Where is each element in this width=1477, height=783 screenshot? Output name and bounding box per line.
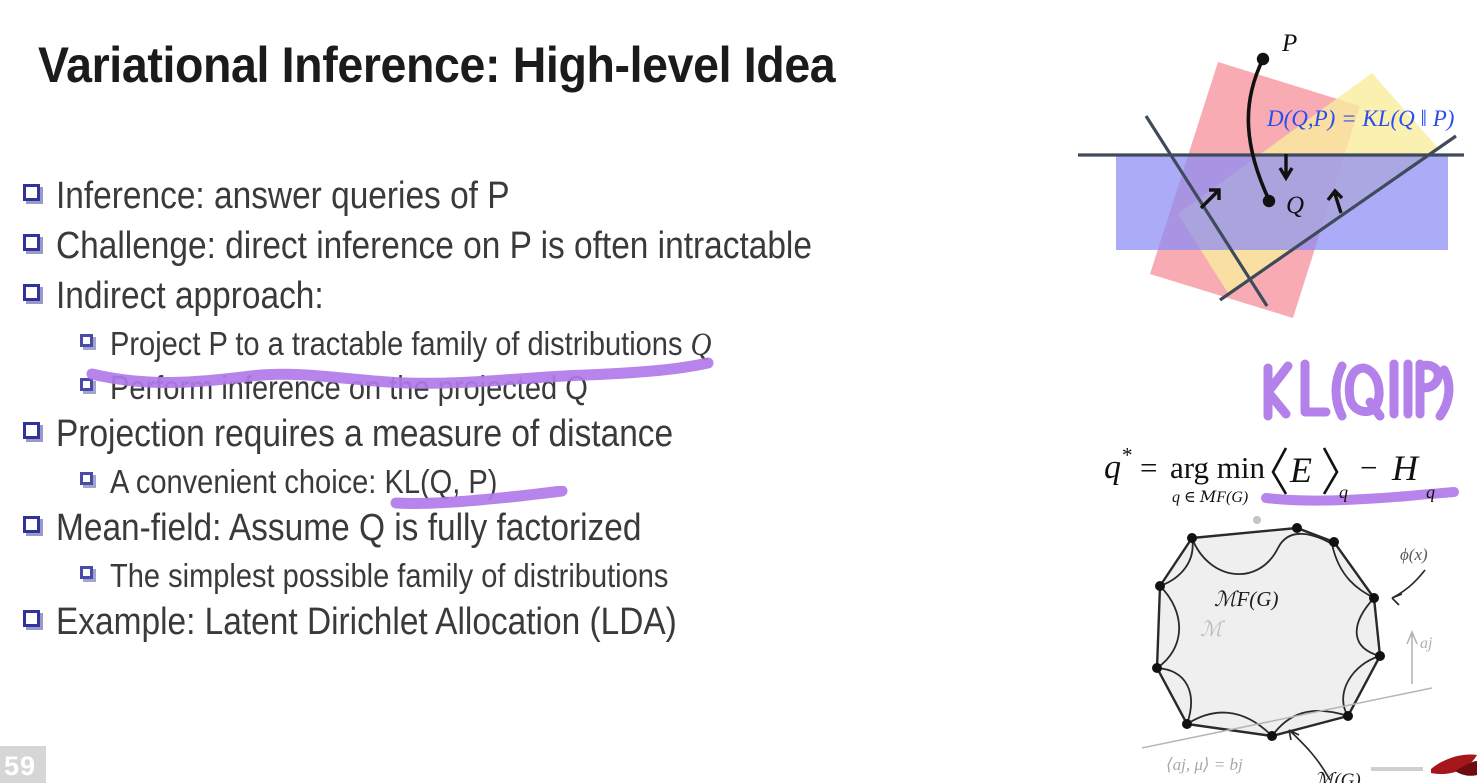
list-item: Mean-field: Assume Q is fully factorized [22,504,1032,554]
list-item-label: Perform inference on the projected Q [110,366,588,409]
list-item: Challenge: direct inference on P is ofte… [22,222,1032,272]
vertex-dot [1343,711,1353,721]
list-item-label: Indirect approach: [56,272,324,320]
bullet-square-icon [80,378,110,408]
list-item: Inference: answer queries of P [22,172,1032,222]
decoration-bar [1371,767,1423,771]
bullet-square-icon [80,566,110,596]
equation-star: * [1122,443,1133,467]
kl-formula-label: D(Q,P) = KL(Q ‖ P) [1266,106,1454,131]
list-item-label: Example: Latent Dirichlet Allocation (LD… [56,598,677,646]
vertex-dot [1292,523,1302,533]
vertex-dot [1375,651,1385,661]
list-item: Perform inference on the projected Q [80,366,1032,410]
list-item: Example: Latent Dirichlet Allocation (LD… [22,598,1032,648]
label-halfspace: ⟨aj, μ⟩ = bj [1166,755,1243,774]
label-mean-field: ℳF(G) [1214,587,1278,611]
list-item-label: Project P to a tractable family of distr… [110,322,712,367]
vertex-dot [1329,537,1339,547]
equation-energy-sub: q [1339,482,1348,502]
angle-bracket-left [1273,448,1286,494]
bullet-square-icon [22,183,56,217]
equation-lhs: q [1104,449,1121,486]
arrow-aj [1407,632,1417,684]
page-title: Variational Inference: High-level Idea [38,36,835,94]
point-p-dot [1257,53,1269,65]
list-item-label: Mean-field: Assume Q is fully factorized [56,504,641,552]
equation-entropy: H [1391,448,1420,488]
kl-projection-diagram: P Q D(Q,P) = KL(Q ‖ P) [1060,18,1477,338]
slide-canvas: Variational Inference: High-level Idea I… [0,0,1477,783]
arrow-phi [1392,570,1425,605]
bullet-square-icon [22,233,56,267]
equation-equals: = [1140,450,1157,485]
equation-argmin: arg min [1170,450,1265,485]
list-item-label: Inference: answer queries of P [56,172,510,220]
vertex-dot [1267,731,1277,741]
angle-bracket-right [1324,448,1337,494]
vertex-dot [1187,533,1197,543]
bullet-square-icon [22,421,56,455]
bullet-square-icon [80,472,110,502]
list-item: Projection requires a measure of distanc… [22,410,1032,460]
list-item-label: Challenge: direct inference on P is ofte… [56,222,812,270]
list-item-label: A convenient choice: KL(Q, P) [110,460,497,503]
page-number: 59 [0,746,46,783]
bullet-list: Inference: answer queries of P Challenge… [22,172,1032,648]
list-item-text: Project P to a tractable family of distr… [110,325,691,362]
label-m-faint: ℳ [1200,617,1226,641]
label-marginal: ℳ(G) [1314,770,1361,783]
equation-minus: − [1360,450,1377,485]
handwritten-annotation-kl: KL(Q||P) [1258,352,1458,434]
vertex-dot [1182,719,1192,729]
vertex-dot [1152,663,1162,673]
list-item: A convenient choice: KL(Q, P) [80,460,1032,504]
list-item: The simplest possible family of distribu… [80,554,1032,598]
vertex-dot [1369,593,1379,603]
bullet-square-icon [22,283,56,317]
point-q-dot [1263,195,1275,207]
math-symbol-q: Q [691,327,712,363]
list-item-label: The simplest possible family of distribu… [110,554,668,597]
point-p-label: P [1281,30,1297,57]
bullet-square-icon [22,515,56,549]
vertex-faint [1253,516,1261,524]
equation-subscript: q ∈ 𝑀F(G) [1172,489,1248,506]
list-item: Project P to a tractable family of distr… [80,322,1032,366]
list-item: Indirect approach: [22,272,1032,322]
equation-argmin: q * = arg min q ∈ 𝑀F(G) E q − H q [1098,432,1477,514]
bullet-square-icon [22,609,56,643]
equation-energy: E [1289,450,1312,490]
equation-entropy-sub: q [1426,482,1435,502]
corner-decoration [1369,739,1477,783]
bullet-square-icon [80,334,110,364]
label-aj: aj [1420,635,1433,652]
point-q-label: Q [1286,192,1304,219]
label-phi: ϕ(x) [1400,545,1428,564]
list-item-label: Projection requires a measure of distanc… [56,410,673,458]
vertex-dot [1155,581,1165,591]
